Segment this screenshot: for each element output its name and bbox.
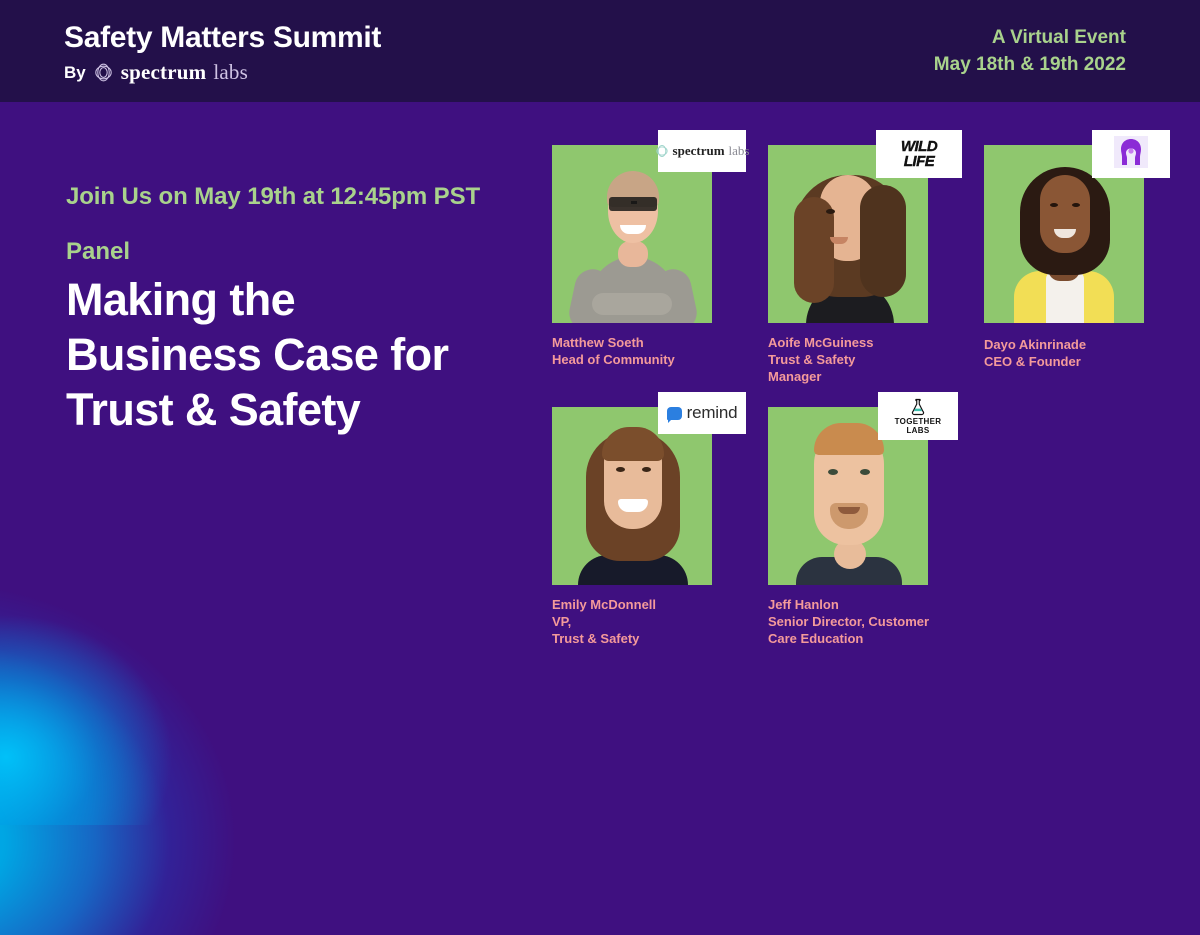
speaker-info: Dayo Akinrinade CEO & Founder: [984, 336, 1164, 370]
speaker-name: Jeff Hanlon: [768, 596, 984, 613]
company-logo-badge: [1092, 130, 1170, 178]
brand-name-bold: spectrum: [121, 60, 207, 85]
speaker-card: TOGETHER LABS Jeff Hanlon Senior Directo…: [768, 407, 984, 647]
logo-text-line-2: LABS: [895, 426, 942, 435]
speaker-role-line: Head of Community: [552, 351, 768, 368]
speaker-name: Matthew Soeth: [552, 334, 768, 351]
speaker-name: Aoife McGuiness: [768, 334, 984, 351]
event-type: A Virtual Event: [934, 24, 1126, 51]
together-labs-flask-logo-icon: TOGETHER LABS: [895, 397, 942, 435]
page-title: Safety Matters Summit: [64, 20, 381, 56]
speaker-info: Aoife McGuiness Trust & Safety Manager: [768, 334, 984, 385]
session-copy: Join Us on May 19th at 12:45pm PST Panel…: [66, 183, 536, 437]
logo-text-line-1: WILD: [901, 139, 937, 154]
by-label: By: [64, 63, 86, 83]
speaker-grid: spectrum labs Matthew Soeth Head of Comm…: [552, 145, 1164, 647]
brand-lockup: Safety Matters Summit By spectrum labs: [64, 20, 381, 85]
speaker-role-line: Trust & Safety: [768, 351, 984, 368]
purple-head-profile-logo-icon: [1114, 136, 1148, 173]
speaker-info: Jeff Hanlon Senior Director, Customer Ca…: [768, 596, 984, 647]
logo-text-line-2: LIFE: [901, 154, 937, 169]
logo-text-line-1: TOGETHER: [895, 417, 942, 426]
company-logo-badge: remind: [658, 392, 746, 434]
background-glow-inner: [0, 485, 300, 825]
session-headline: Making the Business Case for Trust & Saf…: [66, 272, 536, 437]
headline-line-2: Business Case for: [66, 327, 536, 382]
speaker-card: Dayo Akinrinade CEO & Founder: [984, 145, 1164, 385]
wildlife-logo-icon: WILD LIFE: [901, 139, 937, 169]
speaker-row-2: remind Emily McDonnell VP, Trust & Safet…: [552, 407, 1164, 647]
speaker-role-line: CEO & Founder: [984, 353, 1164, 370]
speaker-role-line: Care Education: [768, 630, 984, 647]
speaker-name: Dayo Akinrinade: [984, 336, 1164, 353]
speaker-role-line: Senior Director, Customer: [768, 613, 984, 630]
speaker-role-line: Trust & Safety: [552, 630, 768, 647]
headline-line-3: Trust & Safety: [66, 382, 536, 437]
brand-name-light: labs: [213, 60, 248, 85]
logo-text-bold: spectrum: [673, 143, 725, 159]
remind-logo-icon: remind: [667, 403, 738, 423]
headline-line-1: Making the: [66, 272, 536, 327]
event-meta: A Virtual Event May 18th & 19th 2022: [934, 24, 1126, 78]
speaker-row-1: spectrum labs Matthew Soeth Head of Comm…: [552, 145, 1164, 385]
join-line: Join Us on May 19th at 12:45pm PST: [66, 183, 536, 211]
company-logo-badge: TOGETHER LABS: [878, 392, 958, 440]
event-dates: May 18th & 19th 2022: [934, 51, 1126, 78]
company-logo-badge: spectrum labs: [658, 130, 746, 172]
logo-text-light: labs: [729, 143, 750, 159]
speaker-role-line: VP,: [552, 613, 768, 630]
brand-byline: By spectrum labs: [64, 60, 381, 85]
session-kicker: Panel: [66, 238, 536, 266]
page-header: Safety Matters Summit By spectrum labs A…: [0, 0, 1200, 102]
speaker-info: Matthew Soeth Head of Community: [552, 334, 768, 368]
speaker-info: Emily McDonnell VP, Trust & Safety: [552, 596, 768, 647]
speaker-card: remind Emily McDonnell VP, Trust & Safet…: [552, 407, 768, 647]
speaker-role-line: Manager: [768, 368, 984, 385]
background-glow: [0, 415, 400, 935]
speaker-card: spectrum labs Matthew Soeth Head of Comm…: [552, 145, 768, 385]
speaker-card: WILD LIFE Aoife McGuiness Trust & Safety…: [768, 145, 984, 385]
speech-bubble-icon: [667, 407, 682, 420]
spectrum-labs-logo-icon: spectrum labs: [655, 143, 750, 159]
company-logo-badge: WILD LIFE: [876, 130, 962, 178]
logo-text: remind: [687, 403, 738, 423]
spectrum-spiral-mark-icon: [93, 62, 114, 83]
speaker-name: Emily McDonnell: [552, 596, 768, 613]
